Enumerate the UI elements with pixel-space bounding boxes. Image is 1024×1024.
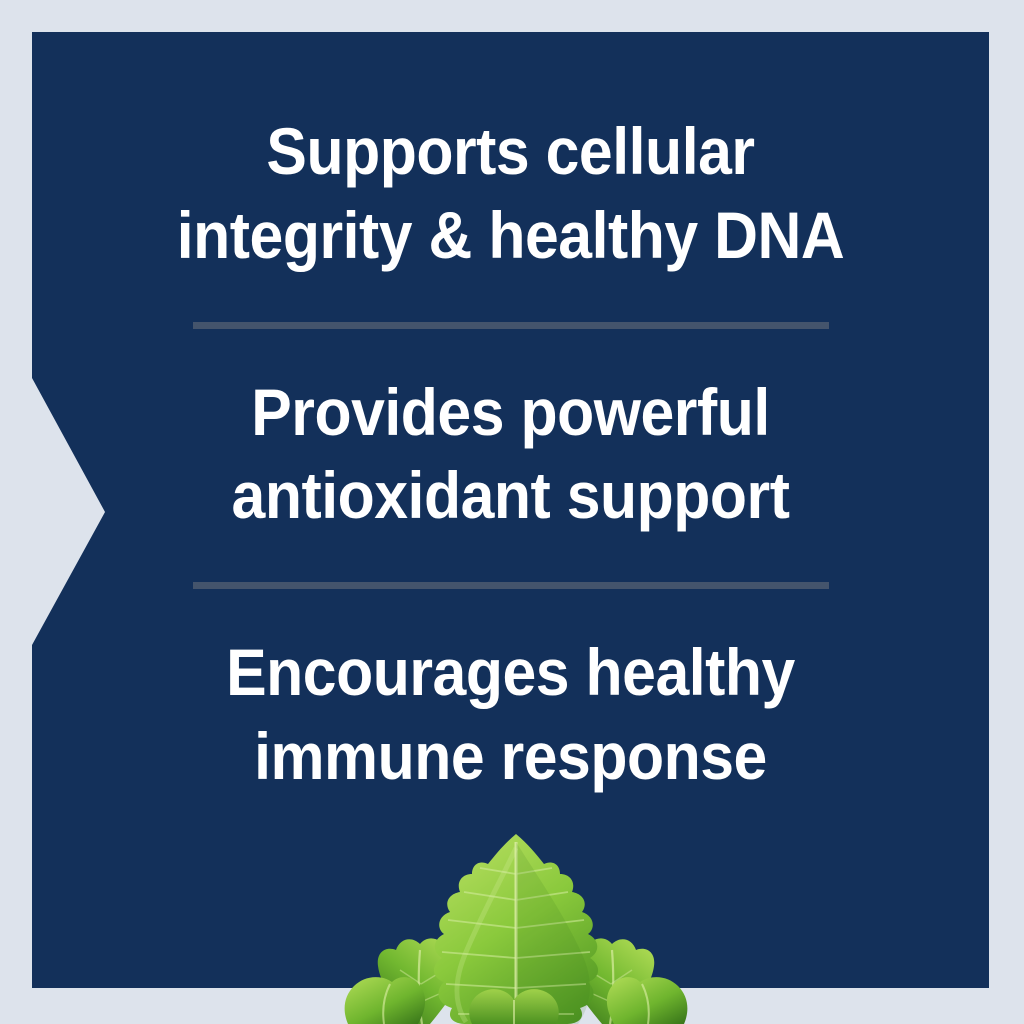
benefit-line-2: antioxidant support [70, 454, 950, 538]
benefit-line-2: immune response [70, 715, 950, 799]
benefit-divider-2 [193, 582, 829, 589]
benefit-line-2: integrity & healthy DNA [70, 194, 950, 278]
benefit-item-cellular-integrity: Supports cellular integrity & healthy DN… [70, 110, 950, 278]
benefit-item-antioxidant-support: Provides powerful antioxidant support [70, 371, 950, 539]
benefit-line-1: Provides powerful [70, 371, 950, 455]
poster-canvas: Supports cellular integrity & healthy DN… [0, 0, 1024, 1024]
benefit-line-1: Encourages healthy [70, 631, 950, 715]
benefit-line-1: Supports cellular [70, 110, 950, 194]
benefit-divider-1 [193, 322, 829, 329]
benefit-item-immune-response: Encourages healthy immune response [70, 631, 950, 799]
benefits-content-column: Supports cellular integrity & healthy DN… [32, 32, 989, 988]
